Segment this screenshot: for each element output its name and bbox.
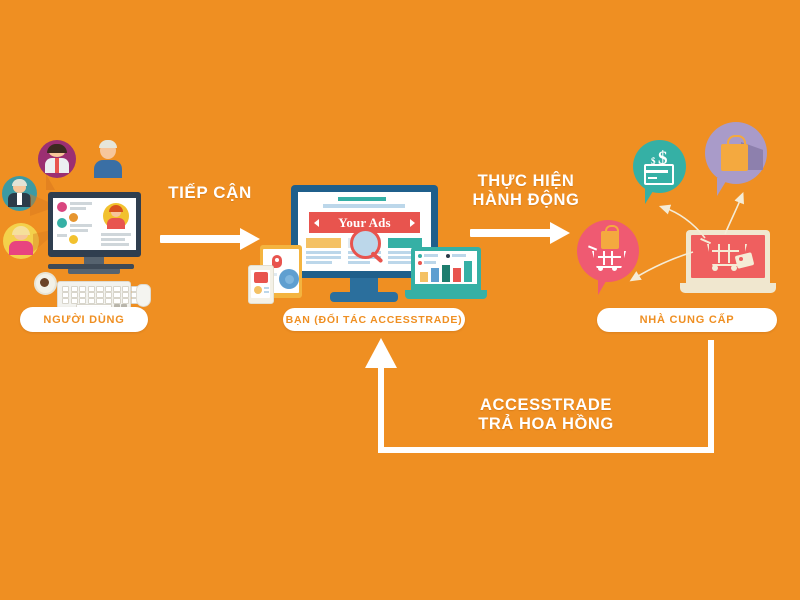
- mouse: [136, 284, 151, 307]
- label-action-line1: THỰC HIỆN: [443, 172, 609, 191]
- arrow-action: [470, 226, 570, 240]
- user-monitor-screen: [53, 198, 136, 250]
- banner-arrow-right-icon: [410, 219, 415, 227]
- supplier-flow-arrows: [565, 112, 800, 312]
- label-reach: TIẾP CẬN: [150, 183, 270, 203]
- avatar-person-blue: [92, 140, 124, 178]
- arrow-reach: [160, 232, 260, 246]
- node-label-partner: BẠN (ĐỐI TÁC ACCESSTRADE): [283, 308, 465, 331]
- label-action: THỰC HIỆN HÀNH ĐỘNG: [443, 172, 609, 211]
- node-label-supplier: NHÀ CUNG CẤP: [597, 308, 777, 332]
- label-action-line2: HÀNH ĐỘNG: [443, 191, 609, 210]
- supplier-scene: $ $: [565, 112, 800, 312]
- infographic-canvas: Your Ads: [0, 0, 800, 600]
- user-monitor: [48, 192, 141, 257]
- label-commission-line2: TRẢ HOA HỒNG: [440, 415, 652, 434]
- desk-edge: [48, 264, 134, 269]
- label-commission-line1: ACCESSTRADE: [440, 396, 652, 415]
- partner-monitor-base: [330, 292, 398, 302]
- banner-arrow-left-icon: [314, 219, 319, 227]
- avatar-tail-magenta: [46, 174, 55, 190]
- label-commission: ACCESSTRADE TRẢ HOA HỒNG: [440, 396, 652, 435]
- phone: [248, 265, 274, 304]
- coffee-cup-icon: [34, 272, 57, 295]
- avatar-badge-magenta: [38, 140, 76, 178]
- analytics-laptop: [405, 247, 487, 302]
- node-label-user: NGƯỜI DÙNG: [20, 307, 148, 332]
- keyboard: [57, 281, 131, 310]
- user-scene: [0, 128, 170, 308]
- arrow-commission: [340, 330, 720, 460]
